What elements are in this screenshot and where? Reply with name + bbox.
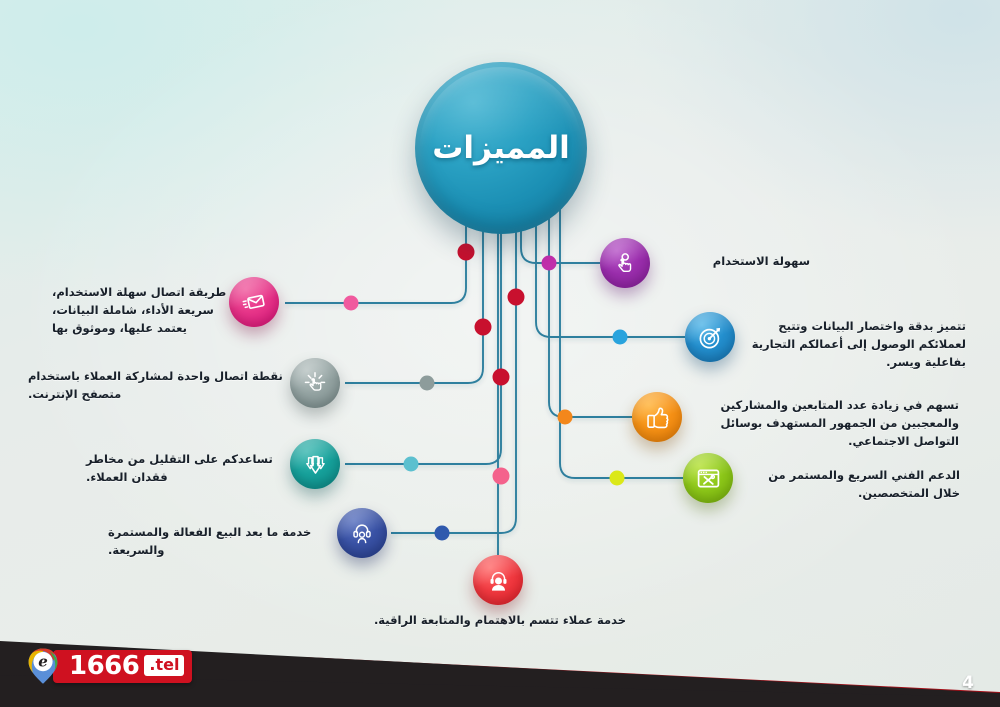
node-customer-care[interactable] [473, 555, 523, 605]
node-email[interactable] [229, 277, 279, 327]
label-email: طريقة اتصال سهلة الاستخدام، سريعة الأداء… [52, 284, 228, 337]
brand-logo[interactable]: e 1666 .tel [26, 647, 192, 685]
label-accuracy-reach: تتميز بدقة واختصار البيانات وتتيح لعملائ… [742, 318, 966, 371]
e-pin-logo-icon: e [26, 647, 60, 685]
customer-agent-icon [485, 567, 512, 594]
logo-letter: e [38, 653, 48, 671]
node-reduce-churn[interactable] [290, 439, 340, 489]
thumbs-up-icon [644, 404, 671, 431]
node-social-growth[interactable] [632, 392, 682, 442]
headset-support-icon [349, 520, 375, 546]
slide-canvas: المميزات طريقة اتصال سهلة الاستخدام، سري… [0, 0, 1000, 707]
envelope-icon [241, 289, 267, 315]
label-single-contact-point: نقطة اتصال واحدة لمشاركة العملاء باستخدا… [28, 368, 284, 404]
logo-badge: 1666 .tel [53, 650, 192, 683]
page-number: 4 [962, 673, 974, 693]
node-tech-support[interactable] [683, 453, 733, 503]
hub-title: المميزات [432, 130, 570, 166]
touch-pointer-icon [612, 250, 638, 276]
target-dart-icon [697, 324, 724, 351]
label-reduce-churn: تساعدكم على التقليل من مخاطر فقدان العمل… [86, 451, 282, 487]
hub-circle[interactable]: المميزات [415, 62, 587, 234]
node-ease-of-use[interactable] [600, 238, 650, 288]
node-single-contact-point[interactable] [290, 358, 340, 408]
label-after-sales: خدمة ما بعد البيع الفعالة والمستمرة والس… [108, 524, 332, 560]
tools-window-icon [695, 465, 722, 492]
down-arrows-icon [302, 451, 329, 478]
label-tech-support: الدعم الفني السريع والمستمر من خلال المت… [742, 467, 960, 503]
node-after-sales[interactable] [337, 508, 387, 558]
node-accuracy-reach[interactable] [685, 312, 735, 362]
logo-suffix: .tel [144, 655, 184, 676]
label-ease-of-use: سهولة الاستخدام [660, 253, 810, 271]
label-customer-care: خدمة عملاء تتسم بالاهتمام والمتابعة الرا… [360, 612, 640, 630]
label-social-growth: تسهم في زيادة عدد المتابعين والمشاركين و… [693, 397, 959, 450]
hand-click-icon [302, 370, 328, 396]
logo-number: 1666 [69, 653, 139, 679]
